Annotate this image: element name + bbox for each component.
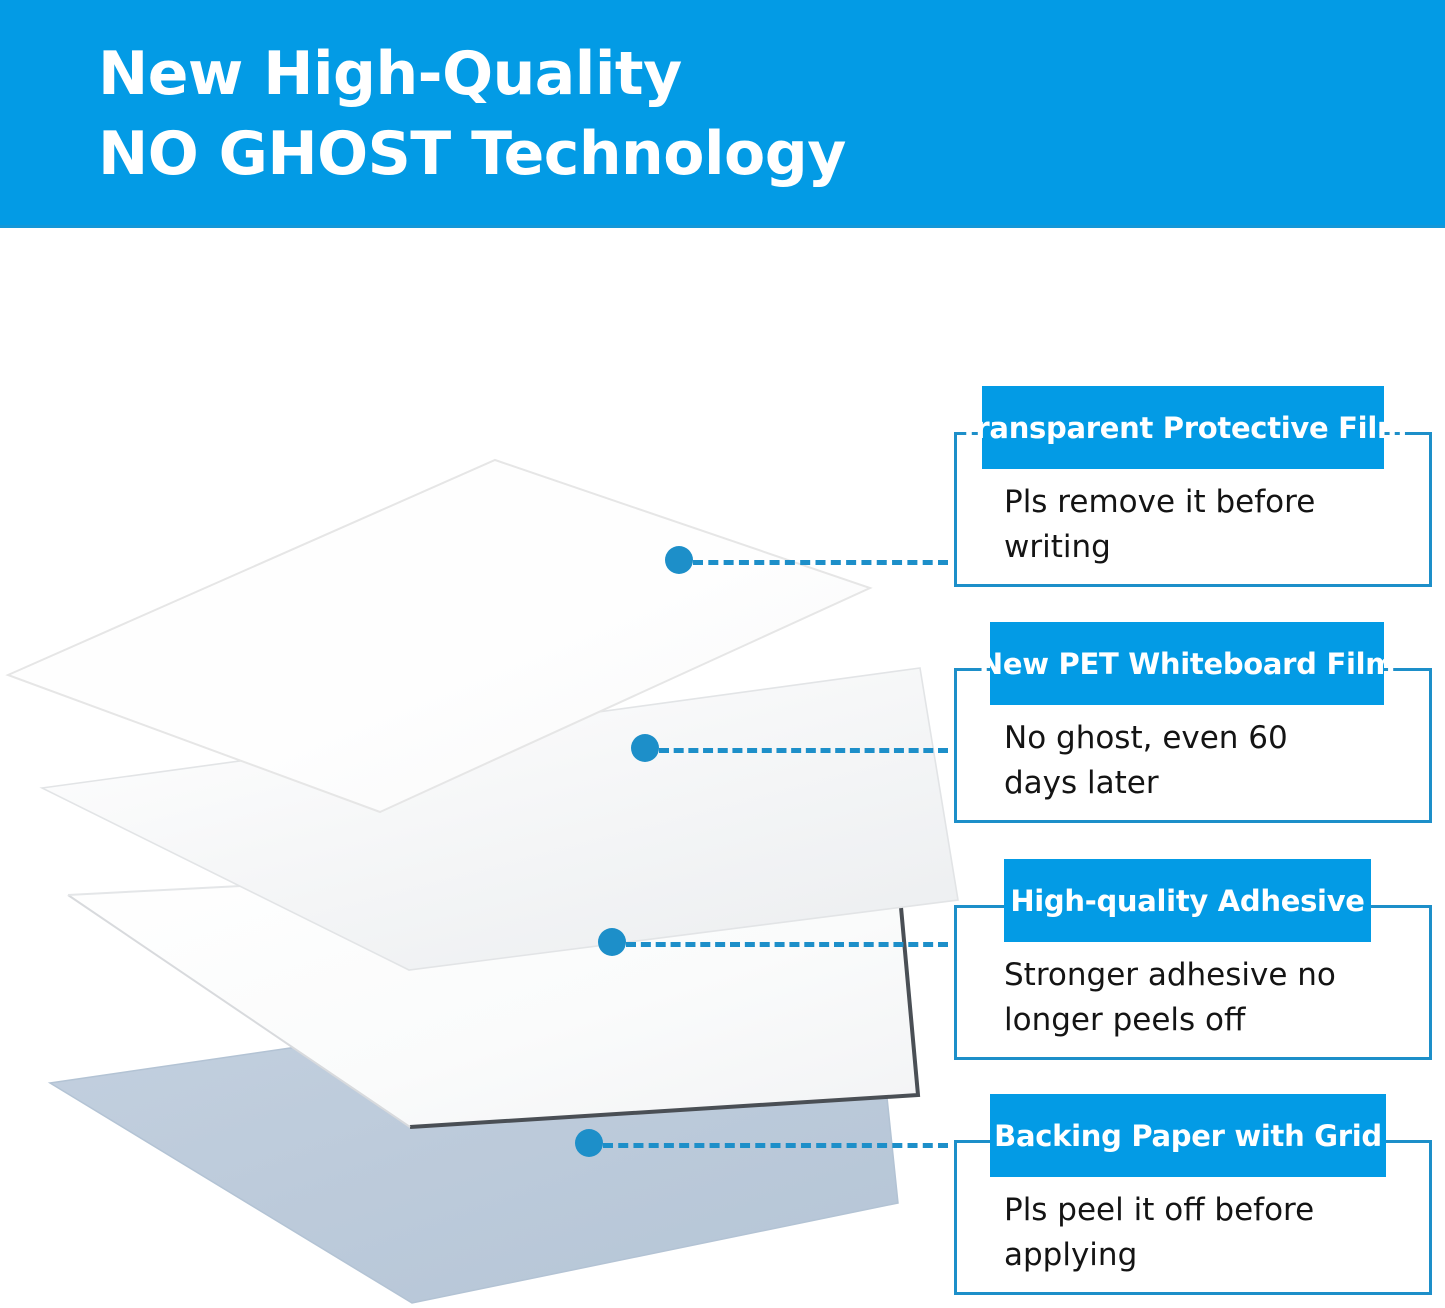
callout-new-pet-whiteboard-film: New PET Whiteboard Film No ghost, even 6… bbox=[944, 608, 1439, 833]
connector-dot-1 bbox=[665, 546, 693, 574]
callout-body-1: Pls remove it before writing bbox=[1004, 480, 1414, 570]
header-banner: New High-Quality NO GHOST Technology bbox=[0, 0, 1445, 228]
callout-header-1: Transparent Protective Film bbox=[982, 386, 1384, 469]
connector-dash-4 bbox=[603, 1143, 948, 1148]
callout-body-4: Pls peel it off before applying bbox=[1004, 1188, 1414, 1278]
connector-dash-2 bbox=[659, 748, 948, 753]
callout-backing-paper-with-grid: Backing Paper with Grid Pls peel it off … bbox=[944, 1080, 1439, 1305]
connector-dash-3 bbox=[626, 942, 948, 947]
connector-dash-1 bbox=[693, 560, 948, 565]
callout-body-3: Stronger adhesive no longer peels off bbox=[1004, 953, 1414, 1043]
callout-body-2: No ghost, even 60 days later bbox=[1004, 716, 1414, 806]
connector-dot-2 bbox=[631, 734, 659, 762]
infographic-canvas: New High-Quality NO GHOST Technology bbox=[0, 0, 1445, 1308]
connector-dot-4 bbox=[575, 1129, 603, 1157]
callout-header-4: Backing Paper with Grid bbox=[990, 1094, 1386, 1177]
connector-dot-3 bbox=[598, 928, 626, 956]
callout-header-2: New PET Whiteboard Film bbox=[990, 622, 1384, 705]
callout-high-quality-adhesive: High-quality Adhesive Stronger adhesive … bbox=[944, 845, 1439, 1070]
callout-transparent-protective-film: Transparent Protective Film Pls remove i… bbox=[944, 372, 1439, 597]
page-title: New High-Quality NO GHOST Technology bbox=[98, 34, 1398, 194]
callout-header-3: High-quality Adhesive bbox=[1004, 859, 1371, 942]
